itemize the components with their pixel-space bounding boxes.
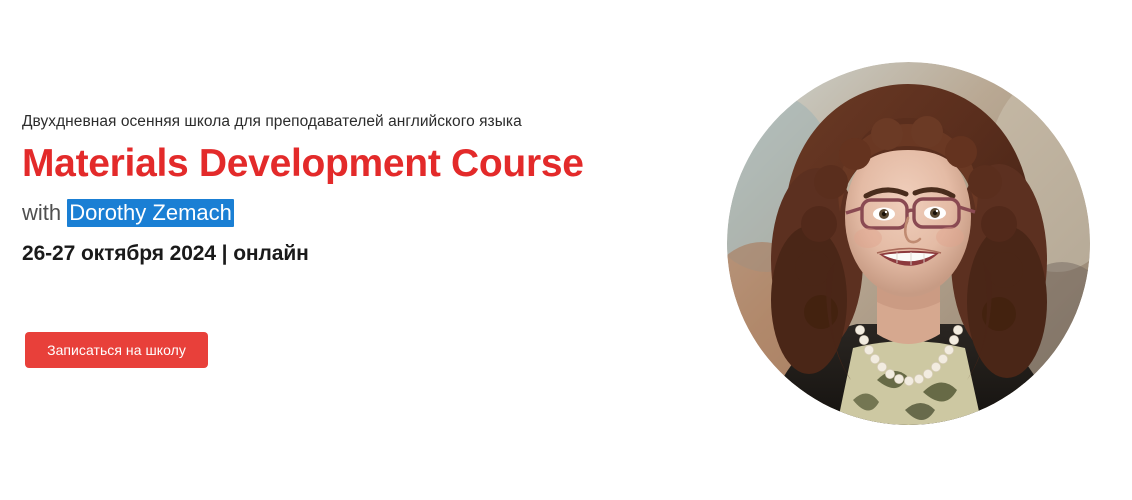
hero-text-block: Двухдневная осенняя школа для преподават…: [22, 112, 682, 267]
presenter-line: with Dorothy Zemach: [22, 199, 682, 227]
hero-banner: Двухдневная осенняя школа для преподават…: [0, 0, 1132, 500]
presenter-prefix-label: with: [22, 200, 67, 225]
presenter-name-selected-text[interactable]: Dorothy Zemach: [67, 199, 234, 227]
register-button[interactable]: Записаться на школу: [25, 332, 208, 368]
page-title: Materials Development Course: [22, 141, 682, 187]
event-date-location: 26-27 октября 2024 | онлайн: [22, 241, 682, 267]
avatar: [727, 62, 1090, 425]
portrait-photo-icon: [727, 62, 1090, 425]
hero-eyebrow: Двухдневная осенняя школа для преподават…: [22, 112, 682, 132]
